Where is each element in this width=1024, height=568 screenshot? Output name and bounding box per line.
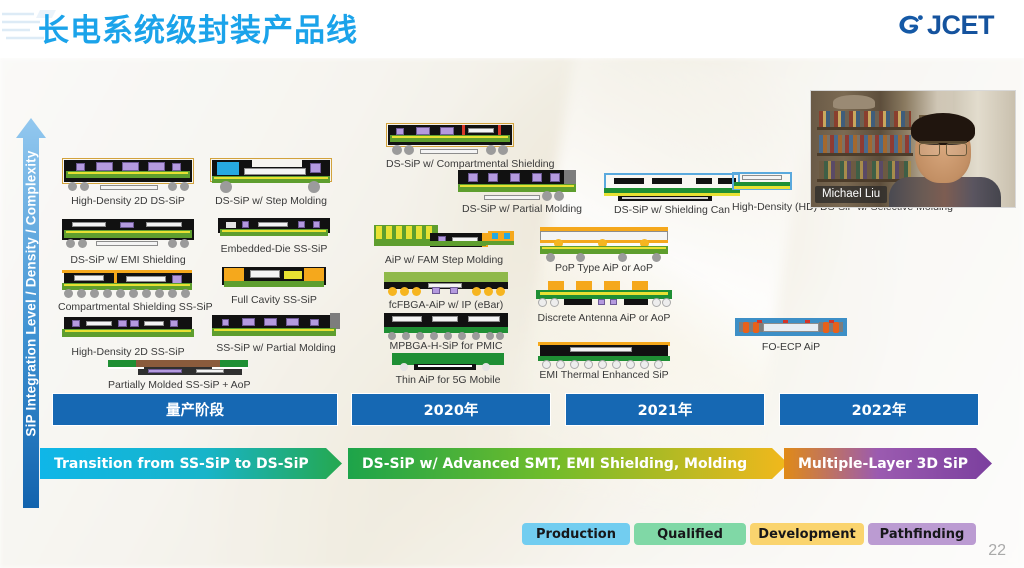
- timeline-bar[interactable]: 2021年: [565, 393, 765, 426]
- slide-header: 长电系统级封装产品线 JCET: [0, 0, 1024, 58]
- package-item: DS-SiP w/ Shielding Can: [604, 173, 740, 216]
- package-cross-section: [538, 342, 670, 368]
- package-cross-section: [384, 272, 508, 298]
- package-label: Full Cavity SS-SiP: [222, 294, 326, 306]
- page-number: 22: [988, 542, 1006, 560]
- video-participant-name: Michael Liu: [815, 186, 887, 203]
- package-cross-section: [458, 170, 586, 202]
- legend-item-production[interactable]: Production: [522, 523, 630, 545]
- package-item: Thin AiP for 5G Mobile: [392, 353, 504, 386]
- package-item: Full Cavity SS-SiP: [222, 267, 326, 306]
- package-label: Embedded-Die SS-SiP: [218, 243, 330, 255]
- package-item: PoP Type AiP or AoP: [540, 227, 668, 274]
- logo-text: JCET: [927, 10, 994, 41]
- timeline-bar[interactable]: 量产阶段: [52, 393, 338, 426]
- package-cross-section: [392, 353, 504, 373]
- video-participant-tile[interactable]: Michael Liu: [810, 90, 1016, 208]
- package-label: Compartmental Shielding SS-SiP: [58, 301, 198, 313]
- package-item: fcFBGA-AiP w/ IP (eBar): [384, 272, 508, 311]
- slide-canvas: 长电系统级封装产品线 JCET SiP Integration Level / …: [0, 0, 1024, 568]
- video-decor-object: [833, 95, 875, 109]
- roadmap-arrow-label: Transition from SS-SiP to DS-SiP: [54, 456, 309, 472]
- roadmap-arrow[interactable]: DS-SiP w/ Advanced SMT, EMI Shielding, M…: [348, 448, 788, 479]
- package-label: MPBGA-H-SiP for PMIC: [384, 340, 508, 352]
- roadmap-arrow-label: DS-SiP w/ Advanced SMT, EMI Shielding, M…: [362, 456, 747, 472]
- roadmap-arrow-label: Multiple-Layer 3D SiP: [798, 456, 968, 472]
- package-item: MPBGA-H-SiP for PMIC: [384, 313, 508, 352]
- package-label: DS-SiP w/ EMI Shielding: [62, 254, 194, 266]
- package-item: Partially Molded SS-SiP + AoP: [108, 360, 248, 391]
- legend-label: Development: [758, 527, 855, 542]
- package-label: DS-SiP w/ Step Molding: [210, 195, 332, 207]
- package-cross-section: [536, 281, 672, 311]
- video-shelf: [817, 153, 913, 156]
- package-label: DS-SiP w/ Compartmental Shielding: [386, 158, 514, 170]
- package-cross-section: [374, 225, 514, 253]
- package-label: High-Density 2D DS-SiP: [62, 195, 194, 207]
- package-item: Compartmental Shielding SS-SiP: [58, 268, 198, 313]
- package-item: EMI Thermal Enhanced SiP: [538, 342, 670, 381]
- package-item: DS-SiP w/ Partial Molding: [458, 170, 586, 215]
- package-cross-section: [62, 158, 194, 194]
- package-item: DS-SiP w/ Step Molding: [210, 158, 332, 207]
- glasses-icon: [919, 141, 967, 152]
- page-title: 长电系统级封装产品线: [38, 5, 358, 50]
- legend-item-development[interactable]: Development: [750, 523, 864, 545]
- axis-label: SiP Integration Level / Density / Comple…: [24, 99, 39, 489]
- package-item: High-Density 2D DS-SiP: [62, 158, 194, 207]
- package-label: AiP w/ FAM Step Molding: [374, 254, 514, 266]
- package-label: DS-SiP w/ Shielding Can: [604, 204, 740, 216]
- package-label: EMI Thermal Enhanced SiP: [538, 369, 670, 381]
- package-label: DS-SiP w/ Partial Molding: [458, 203, 586, 215]
- package-cross-section: [62, 317, 194, 345]
- timeline-bar-label: 2021年: [638, 399, 693, 420]
- package-cross-section: [210, 158, 332, 194]
- jcet-logo: JCET: [896, 10, 994, 41]
- package-label: FO-ECP AiP: [735, 341, 847, 353]
- package-item: Embedded-Die SS-SiP: [218, 218, 330, 255]
- legend-label: Pathfinding: [880, 527, 965, 542]
- roadmap-arrow[interactable]: Transition from SS-SiP to DS-SiP: [40, 448, 342, 479]
- package-item: DS-SiP w/ Compartmental Shielding: [386, 123, 514, 170]
- legend-item-pathfinding[interactable]: Pathfinding: [868, 523, 976, 545]
- video-books: [819, 161, 911, 179]
- package-item: High-Density 2D SS-SiP: [62, 317, 194, 358]
- package-cross-section: [212, 313, 340, 341]
- package-item: AiP w/ FAM Step Molding: [374, 225, 514, 266]
- package-item: SS-SiP w/ Partial Molding: [212, 313, 340, 354]
- swoosh-g-icon: [896, 13, 924, 39]
- package-label: Partially Molded SS-SiP + AoP: [108, 379, 248, 391]
- video-books: [819, 135, 911, 153]
- package-label: Thin AiP for 5G Mobile: [392, 374, 504, 386]
- package-label: Discrete Antenna AiP or AoP: [536, 312, 672, 324]
- package-cross-section: [222, 267, 326, 293]
- package-item: DS-SiP w/ EMI Shielding: [62, 219, 194, 266]
- video-shelf: [817, 127, 913, 130]
- package-cross-section: [735, 318, 847, 340]
- timeline-bar-label: 2020年: [424, 399, 479, 420]
- timeline-bar-label: 2022年: [852, 399, 907, 420]
- roadmap-arrow[interactable]: Multiple-Layer 3D SiP: [784, 448, 992, 479]
- package-label: PoP Type AiP or AoP: [540, 262, 668, 274]
- package-label: High-Density 2D SS-SiP: [62, 346, 194, 358]
- legend-label: Production: [536, 527, 616, 542]
- legend-item-qualified[interactable]: Qualified: [634, 523, 746, 545]
- package-cross-section: [108, 360, 248, 378]
- package-cross-section: [604, 173, 740, 203]
- package-cross-section: [58, 268, 198, 300]
- package-cross-section: [540, 227, 668, 261]
- package-item: FO-ECP AiP: [735, 318, 847, 353]
- legend-label: Qualified: [657, 527, 723, 542]
- package-cross-section: [62, 219, 194, 253]
- package-cross-section: [386, 123, 514, 157]
- timeline-bar[interactable]: 2022年: [779, 393, 979, 426]
- package-item: Discrete Antenna AiP or AoP: [536, 281, 672, 324]
- timeline-bar[interactable]: 2020年: [351, 393, 551, 426]
- package-label: fcFBGA-AiP w/ IP (eBar): [384, 299, 508, 311]
- package-cross-section: [218, 218, 330, 242]
- timeline-bar-label: 量产阶段: [166, 399, 224, 420]
- package-cross-section: [384, 313, 508, 339]
- package-label: SS-SiP w/ Partial Molding: [212, 342, 340, 354]
- video-books: [819, 111, 911, 127]
